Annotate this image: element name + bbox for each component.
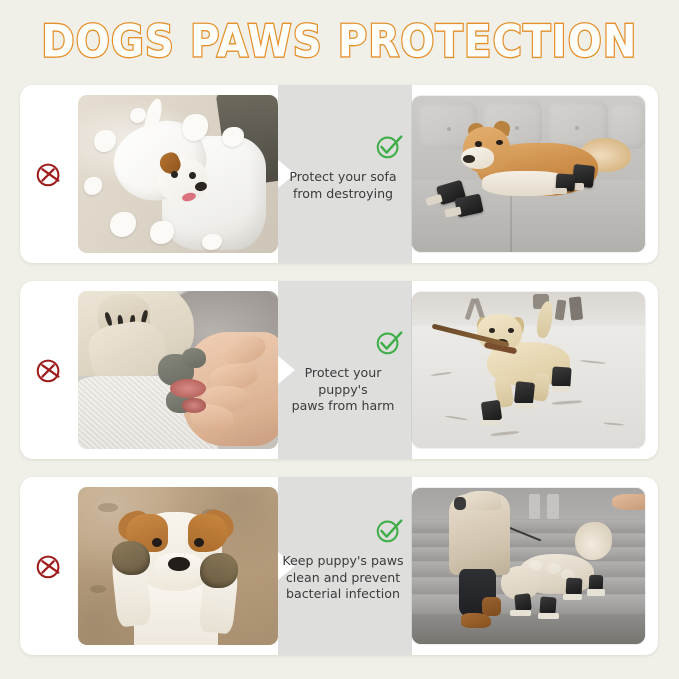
problem-photo-1: [78, 95, 278, 253]
caption-line: from destroying: [278, 186, 408, 203]
benefit-photo-1: [412, 96, 645, 252]
caption-panel-2: Protect your puppy's paws from harm: [278, 281, 412, 459]
caption-panel-3: Keep puppy's paws clean and prevent bact…: [278, 477, 412, 655]
cross-circle-icon: [34, 159, 64, 189]
caption-line: Keep puppy's paws: [278, 553, 408, 570]
problem-photo-3: [78, 487, 278, 645]
cross-icon-cell-1: [20, 85, 78, 263]
caption-text-3: Keep puppy's paws clean and prevent bact…: [278, 553, 408, 603]
page-title: DOGS PAWS PROTECTION: [41, 16, 637, 68]
check-circle-icon: [374, 327, 404, 357]
caption-line: Protect your puppy's: [278, 365, 408, 398]
check-circle-icon: [374, 515, 404, 545]
cross-circle-icon: [34, 551, 64, 581]
problem-photo-2: [78, 291, 278, 449]
cross-icon-cell-2: [20, 281, 78, 459]
caption-text-1: Protect your sofa from destroying: [278, 169, 408, 202]
caption-text-2: Protect your puppy's paws from harm: [278, 365, 408, 415]
benefit-row-2: Protect your puppy's paws from harm: [20, 281, 658, 459]
cross-icon-cell-3: [20, 477, 78, 655]
caption-line: Protect your sofa: [278, 169, 408, 186]
infographic-page: DOGS PAWS PROTECTION: [0, 0, 679, 679]
caption-line: clean and prevent: [278, 570, 408, 587]
benefit-row-1: Protect your sofa from destroying: [20, 85, 658, 263]
benefit-photo-3: [412, 488, 645, 644]
page-title-container: DOGS PAWS PROTECTION: [0, 14, 679, 70]
benefit-photo-2: [412, 292, 645, 448]
caption-panel-1: Protect your sofa from destroying: [278, 85, 412, 263]
benefit-row-3: Keep puppy's paws clean and prevent bact…: [20, 477, 658, 655]
cross-circle-icon: [34, 355, 64, 385]
check-circle-icon: [374, 131, 404, 161]
caption-line: bacterial infection: [278, 586, 408, 603]
caption-line: paws from harm: [278, 398, 408, 415]
